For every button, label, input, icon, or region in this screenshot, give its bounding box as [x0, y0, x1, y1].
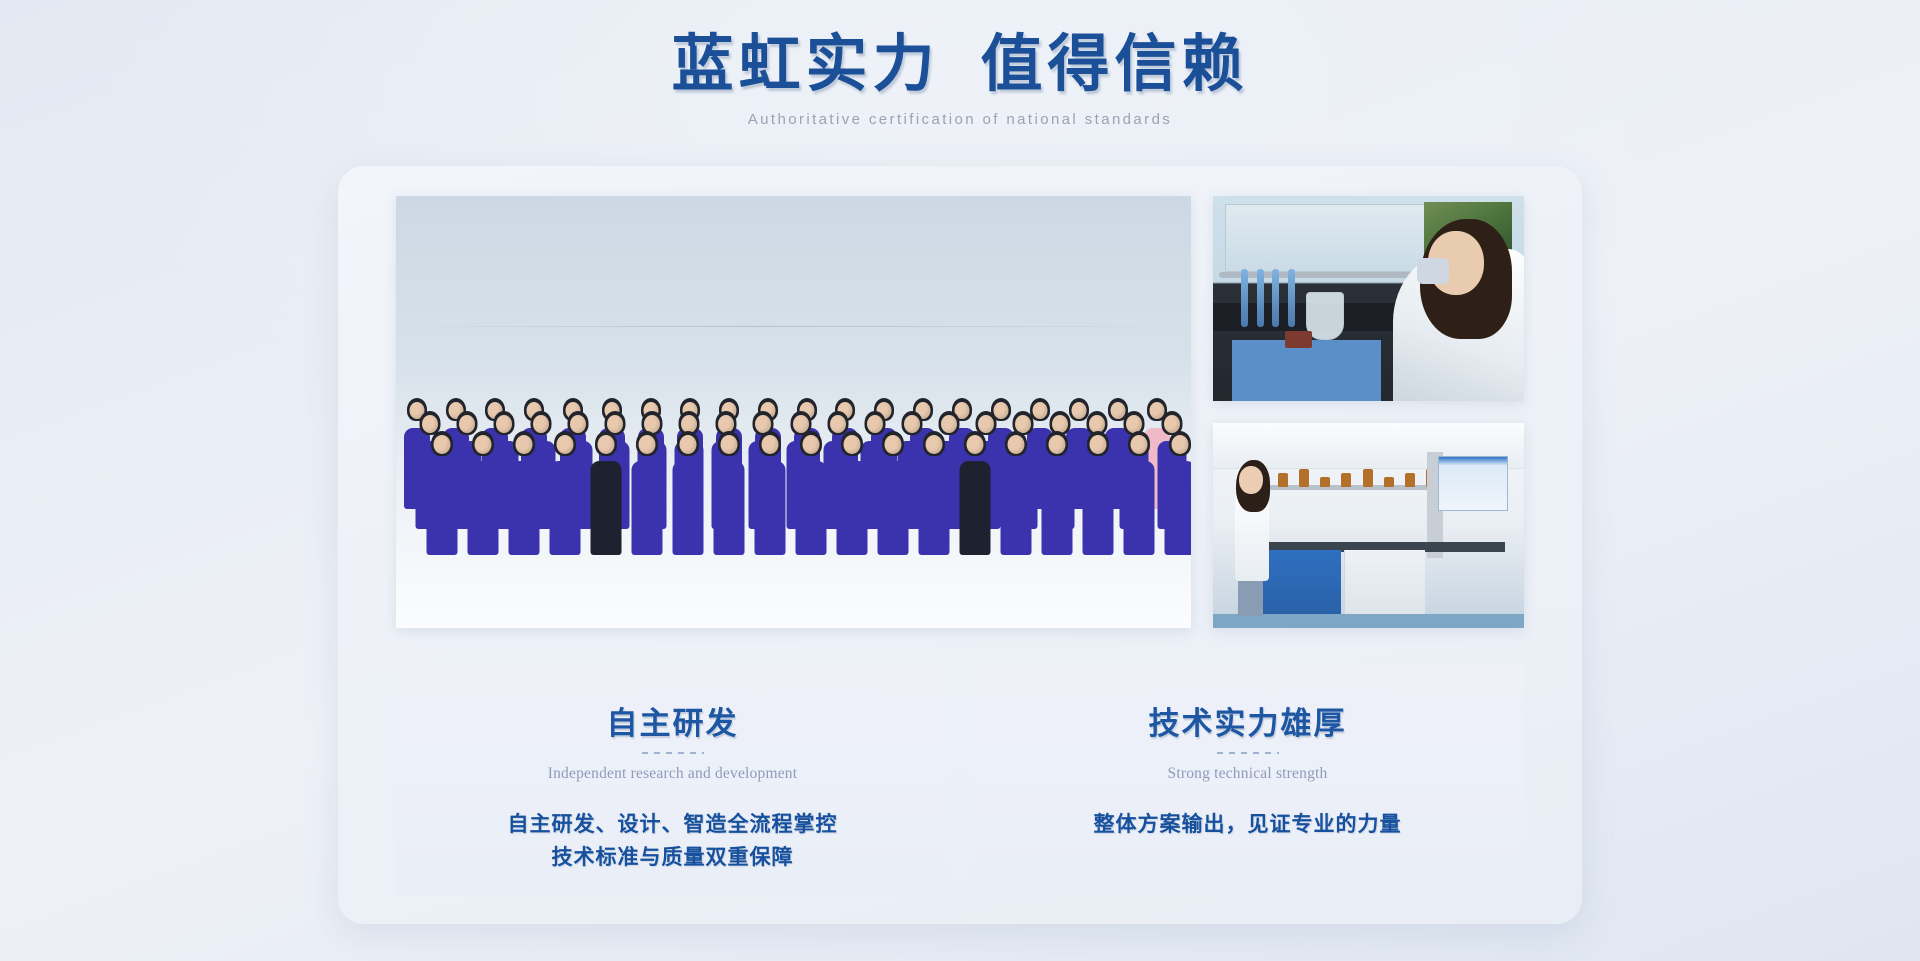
person-figure	[1082, 431, 1113, 555]
person-torso	[631, 461, 662, 555]
person-torso	[426, 461, 457, 555]
card-subtitle-en: Independent research and development	[548, 765, 798, 783]
person-torso	[672, 461, 703, 555]
person-head	[597, 435, 614, 454]
person-head	[515, 435, 532, 454]
page-header: 蓝虹实力 值得信赖 Authoritative certification of…	[0, 30, 1920, 128]
person-figure	[508, 431, 539, 555]
person-figure	[1041, 431, 1072, 555]
media-gallery	[396, 196, 1524, 628]
card-body-line: 整体方案输出，见证专业的力量	[1094, 808, 1402, 841]
lab-photo-column	[1213, 196, 1524, 628]
person-torso	[918, 461, 949, 555]
person-figure	[672, 431, 703, 555]
person-torso	[713, 461, 744, 555]
person-torso	[1041, 461, 1072, 555]
dashed-divider	[642, 752, 704, 754]
card-body-line: 技术标准与质量双重保障	[508, 841, 838, 874]
person-figure	[549, 431, 580, 555]
person-head	[1130, 435, 1147, 454]
person-head	[720, 435, 737, 454]
person-figure	[713, 431, 744, 555]
person-head	[1171, 435, 1188, 454]
feature-cards: 自主研发 Independent research and developmen…	[396, 664, 1524, 896]
reagent-bottle-icon	[1320, 477, 1330, 487]
lab-safety-poster	[1438, 456, 1508, 511]
lab-photo-technician-bench	[1213, 196, 1524, 401]
card-body-line: 自主研发、设计、智造全流程掌控	[508, 808, 838, 841]
person-torso	[1164, 461, 1191, 555]
feature-card-technical-strength: 技术实力雄厚 Strong technical strength 整体方案输出，…	[971, 664, 1524, 896]
person-figure	[877, 431, 908, 555]
person-head	[638, 435, 655, 454]
pipette-icon	[1272, 269, 1279, 327]
person-head	[843, 435, 860, 454]
person-torso	[590, 461, 621, 555]
person-torso	[467, 461, 498, 555]
person-torso	[1082, 461, 1113, 555]
person-figure	[1164, 431, 1191, 555]
reagent-bottle-icon	[1384, 477, 1394, 487]
person-head	[679, 435, 696, 454]
person-torso	[959, 461, 990, 555]
person-head	[1048, 435, 1065, 454]
person-head	[966, 435, 983, 454]
reagent-bottle-icon	[1341, 473, 1351, 487]
card-title: 自主研发	[607, 698, 739, 743]
person-head	[433, 435, 450, 454]
card-body: 自主研发、设计、智造全流程掌控 技术标准与质量双重保障	[508, 808, 838, 873]
page-subtitle: Authoritative certification of national …	[0, 111, 1920, 128]
person-head	[884, 435, 901, 454]
lab-photo-laboratory-room	[1213, 423, 1524, 628]
lab-window	[1225, 204, 1426, 272]
group-photo-people	[396, 304, 1191, 555]
person-figure	[1123, 431, 1154, 555]
person-head	[474, 435, 491, 454]
reagent-bottle-icon	[1405, 473, 1415, 487]
volumetric-flask-icon	[1306, 292, 1344, 340]
lab-reagent-bottles	[1257, 468, 1450, 486]
person-head	[556, 435, 573, 454]
lab-bench-scene	[1213, 196, 1524, 401]
card-body: 整体方案输出，见证专业的力量	[1094, 808, 1402, 841]
card-subtitle-en: Strong technical strength	[1168, 765, 1328, 783]
person-torso	[795, 461, 826, 555]
person-torso	[754, 461, 785, 555]
person-torso	[1000, 461, 1031, 555]
person-figure	[631, 431, 662, 555]
page-title: 蓝虹实力 值得信赖	[0, 30, 1920, 101]
person-torso	[836, 461, 867, 555]
person-figure	[426, 431, 457, 555]
person-torso	[877, 461, 908, 555]
person-figure	[959, 431, 990, 555]
face-mask-icon	[1417, 258, 1449, 284]
reagent-bottle-icon	[1297, 331, 1312, 348]
reagent-bottle-icon	[1363, 469, 1373, 487]
feature-card-independent-rd: 自主研发 Independent research and developmen…	[396, 664, 949, 896]
person-figure	[754, 431, 785, 555]
team-group-photo	[396, 196, 1191, 628]
pipette-icon	[1257, 269, 1264, 327]
content-panel: 自主研发 Independent research and developmen…	[338, 166, 1582, 924]
person-figure	[918, 431, 949, 555]
person-head	[1007, 435, 1024, 454]
reagent-bottle-icon	[1278, 473, 1288, 487]
person-head	[802, 435, 819, 454]
lab-room-scene	[1213, 423, 1524, 628]
pipette-icon	[1241, 269, 1248, 327]
lab-floor	[1213, 614, 1524, 628]
card-title: 技术实力雄厚	[1149, 698, 1347, 743]
reagent-bottle-icon	[1299, 469, 1309, 487]
person-torso	[549, 461, 580, 555]
dashed-divider	[1217, 752, 1279, 754]
lab-grey-cabinet	[1344, 550, 1426, 616]
person-figure	[836, 431, 867, 555]
person-figure	[795, 431, 826, 555]
person-head	[1089, 435, 1106, 454]
pipette-icon	[1288, 269, 1295, 327]
person-torso	[508, 461, 539, 555]
person-figure	[1000, 431, 1031, 555]
person-figure	[590, 431, 621, 555]
person-head	[761, 435, 778, 454]
lab-bench-blue-panel	[1232, 340, 1381, 402]
person-head	[925, 435, 942, 454]
person-torso	[1123, 461, 1154, 555]
person-figure	[467, 431, 498, 555]
